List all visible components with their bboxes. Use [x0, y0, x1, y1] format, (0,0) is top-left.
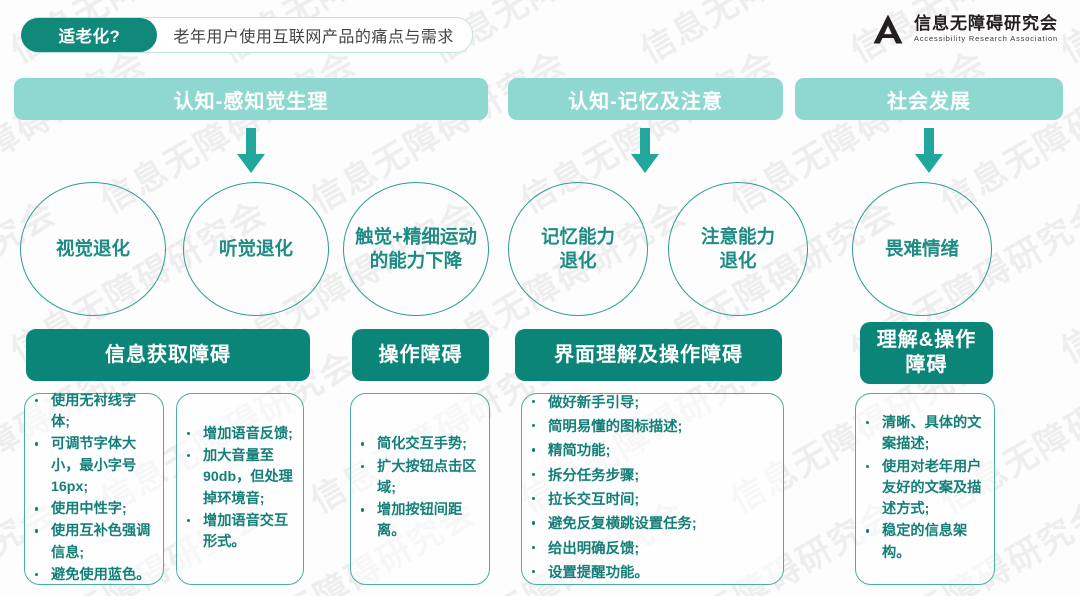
bullet-list: 做好新手引导;简明易懂的图标描述;精简功能;拆分任务步骤;拉长交互时间;避免反复…	[522, 392, 783, 587]
brand-logo: 信息无障碍研究会 Accessibility Research Associat…	[871, 12, 1058, 46]
bullet-item: 增加语音反馈;	[203, 424, 295, 445]
title-subtitle: 老年用户使用互联网产品的痛点与需求	[157, 23, 454, 47]
logo-text: 信息无障碍研究会 Accessibility Research Associat…	[914, 15, 1058, 42]
bullet-item: 避免使用蓝色。	[51, 565, 155, 586]
bullet-item: 拆分任务步骤;	[548, 465, 775, 488]
down-arrow-icon-memory	[629, 128, 661, 174]
bullet-item: 精简功能;	[548, 440, 775, 463]
logo-name-en: Accessibility Research Association	[914, 35, 1058, 42]
bullet-list: 增加语音反馈;加大音量至90db，但处理掉环境音;增加语音交互形式。	[177, 424, 303, 555]
bullet-item: 稳定的信息架构。	[882, 521, 986, 564]
box-cognitive-solutions: 做好新手引导;简明易懂的图标描述;精简功能;拆分任务步骤;拉长交互时间;避免反复…	[521, 393, 784, 585]
category-header-social: 社会发展	[795, 78, 1063, 120]
bullet-item: 使用无衬线字体;	[51, 391, 155, 434]
down-arrow-icon-social	[913, 128, 945, 174]
bullet-item: 使用对老年用户友好的文案及描述方式;	[882, 457, 986, 521]
bullet-list: 简化交互手势;扩大按钮点击区域;增加按钮间距离。	[351, 434, 489, 543]
a-triangle-logo-icon	[871, 12, 905, 46]
barrier-info-access: 信息获取障碍	[26, 329, 310, 381]
circle-motor-decline: 触觉+精细运动的能力下降	[343, 182, 489, 316]
circle-fear-emotion: 畏难情绪	[852, 182, 992, 316]
box-visual-solutions: 使用无衬线字体;可调节字体大小，最小字号16px;使用中性字;使用互补色强调信息…	[24, 393, 164, 585]
bullet-item: 使用互补色强调信息;	[51, 521, 155, 564]
logo-name-cn: 信息无障碍研究会	[914, 15, 1058, 32]
bullet-item: 设置提醒功能。	[548, 562, 775, 585]
bullet-item: 做好新手引导;	[548, 392, 775, 415]
title-tag: 适老化?	[21, 18, 157, 52]
bullet-item: 给出明确反馈;	[548, 538, 775, 561]
box-comprehension-solutions: 清晰、具体的文案描述;使用对老年用户友好的文案及描述方式;稳定的信息架构。	[855, 393, 995, 585]
category-header-perception: 认知-感知觉生理	[14, 78, 488, 120]
bullet-item: 加大音量至90db，但处理掉环境音;	[203, 446, 295, 510]
bullet-item: 增加按钮间距离。	[377, 500, 481, 543]
watermark-text: 信息无障碍研究会	[630, 0, 904, 72]
box-audio-solutions: 增加语音反馈;加大音量至90db，但处理掉环境音;增加语音交互形式。	[176, 393, 304, 585]
circle-vision-decline: 视觉退化	[20, 182, 166, 316]
box-motor-solutions: 简化交互手势;扩大按钮点击区域;增加按钮间距离。	[350, 393, 490, 585]
circle-memory-decline: 记忆能力退化	[508, 182, 648, 316]
watermark-text: 信息无障碍研究会	[1050, 486, 1080, 596]
circle-attention-decline: 注意能力退化	[668, 182, 808, 316]
bullet-item: 简化交互手势;	[377, 434, 481, 455]
infographic-canvas: 信息无障碍研究会信息无障碍研究会信息无障碍研究会信息无障碍研究会信息无障碍研究会…	[0, 0, 1080, 596]
bullet-list: 清晰、具体的文案描述;使用对老年用户友好的文案及描述方式;稳定的信息架构。	[856, 413, 994, 565]
circle-hearing-decline: 听觉退化	[183, 182, 329, 316]
title-pill: 适老化? 老年用户使用互联网产品的痛点与需求	[22, 17, 473, 53]
bullet-list: 使用无衬线字体;可调节字体大小，最小字号16px;使用中性字;使用互补色强调信息…	[25, 391, 163, 588]
down-arrow-icon-perception	[235, 128, 267, 174]
watermark-text: 信息无障碍研究会	[1050, 186, 1080, 372]
bullet-item: 简明易懂的图标描述;	[548, 416, 775, 439]
barrier-ui-understanding: 界面理解及操作障碍	[515, 329, 782, 381]
barrier-operation: 操作障碍	[352, 329, 489, 381]
bullet-item: 使用中性字;	[51, 499, 155, 520]
bullet-item: 清晰、具体的文案描述;	[882, 413, 986, 456]
bullet-item: 拉长交互时间;	[548, 489, 775, 512]
bullet-item: 可调节字体大小，最小字号16px;	[51, 434, 155, 498]
category-header-memory: 认知-记忆及注意	[508, 78, 783, 120]
barrier-comprehension-operation: 理解&操作障碍	[860, 322, 993, 384]
bullet-item: 避免反复横跳设置任务;	[548, 513, 775, 536]
bullet-item: 扩大按钮点击区域;	[377, 457, 481, 500]
bullet-item: 增加语音交互形式。	[203, 511, 295, 554]
